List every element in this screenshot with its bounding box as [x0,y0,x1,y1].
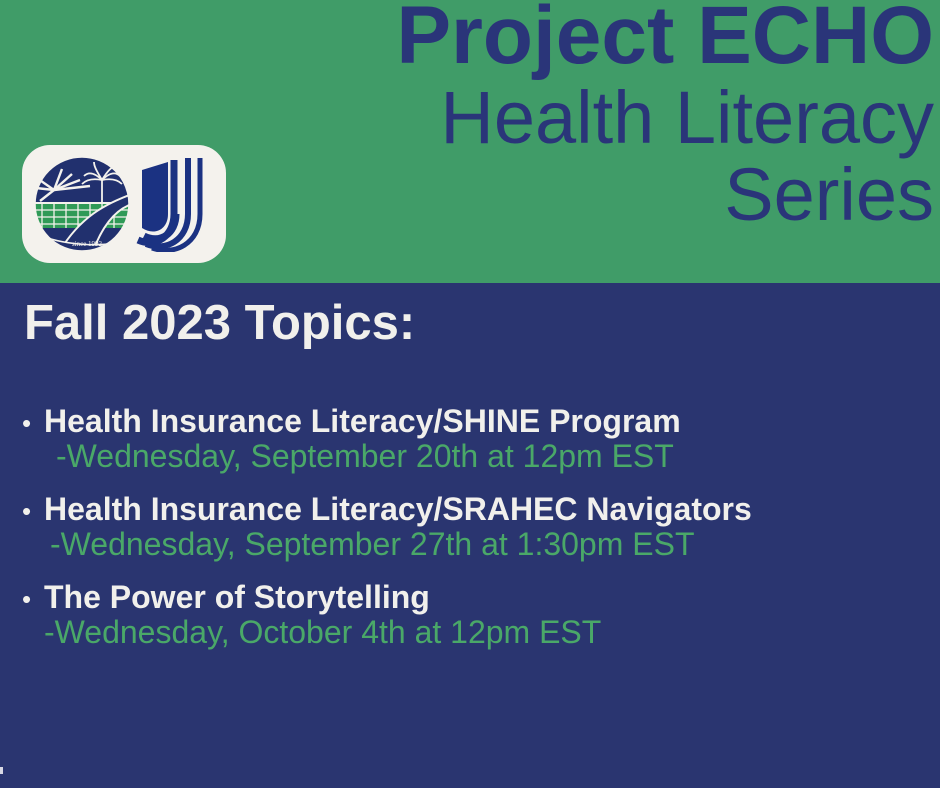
list-item: • Health Insurance Literacy/SRAHEC Navig… [0,491,940,563]
topic-title: Health Insurance Literacy/SHINE Program [44,403,681,440]
topic-date: -Wednesday, September 27th at 1:30pm EST [0,526,940,563]
logo-container: since 1992 [22,145,226,263]
emblem-caption: since 1992 [72,240,103,248]
page-title: Project ECHO [4,0,934,76]
unitedhealth-u-mark [134,156,216,252]
poster-header: Project ECHO Health Literacy Series [0,0,940,283]
bullet-icon: • [22,410,44,436]
topic-date: -Wednesday, October 4th at 12pm EST [0,614,940,651]
poster-canvas: Project ECHO Health Literacy Series [0,0,940,788]
topic-heading-row: • Health Insurance Literacy/SHINE Progra… [0,403,940,440]
topic-heading-row: • The Power of Storytelling [0,579,940,616]
topics-list: • Health Insurance Literacy/SHINE Progra… [0,403,940,667]
topic-date: -Wednesday, September 20th at 12pm EST [0,438,940,475]
bullet-icon: • [22,586,44,612]
topic-heading-row: • Health Insurance Literacy/SRAHEC Navig… [0,491,940,528]
bullet-icon: • [22,498,44,524]
section-heading: Fall 2023 Topics: [24,295,415,351]
topic-title: Health Insurance Literacy/SRAHEC Navigat… [44,491,752,528]
list-item: • The Power of Storytelling -Wednesday, … [0,579,940,651]
srahec-circular-emblem: since 1992 [32,154,132,254]
page-subtitle-line1: Health Literacy [4,82,934,154]
list-item: • Health Insurance Literacy/SHINE Progra… [0,403,940,475]
corner-artifact [0,767,3,774]
poster-body: Fall 2023 Topics: • Health Insurance Lit… [0,283,940,788]
topic-title: The Power of Storytelling [44,579,430,616]
